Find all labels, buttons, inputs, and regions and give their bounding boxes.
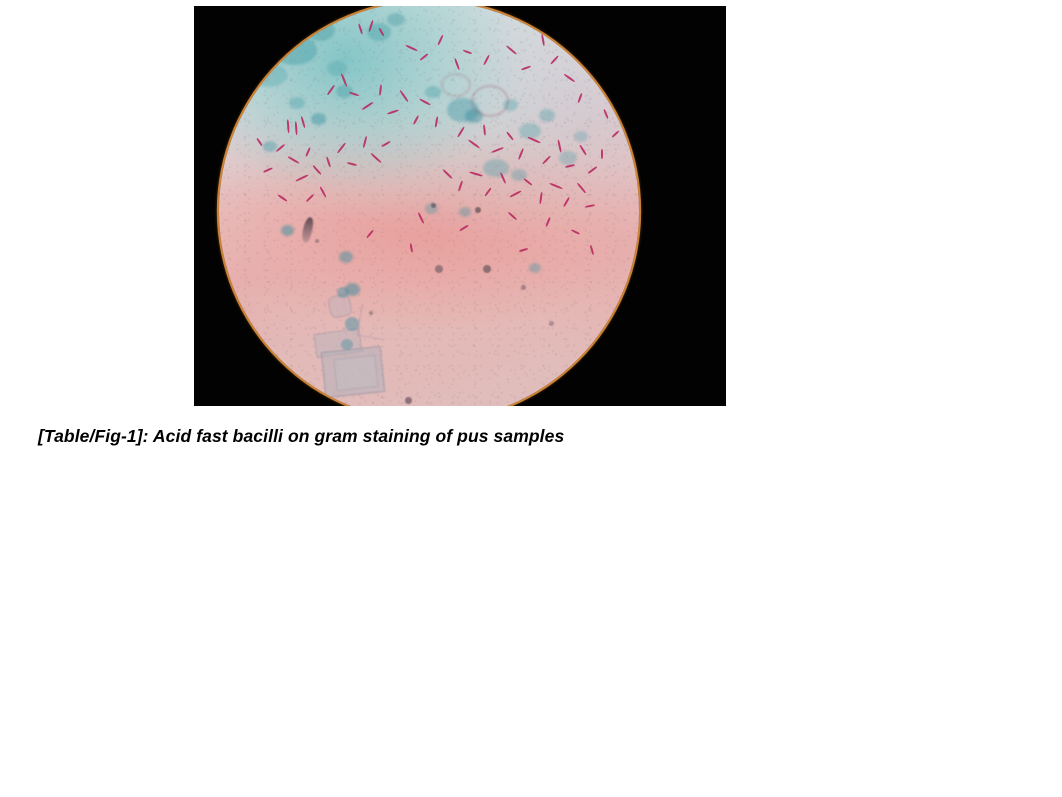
microscope-field-circle — [219, 6, 639, 406]
figure-photomicrograph — [194, 6, 726, 406]
figure-caption: [Table/Fig-1]: Acid fast bacilli on gram… — [38, 426, 938, 447]
field-edge-shading — [219, 6, 639, 406]
page-canvas: [Table/Fig-1]: Acid fast bacilli on gram… — [0, 0, 1062, 797]
